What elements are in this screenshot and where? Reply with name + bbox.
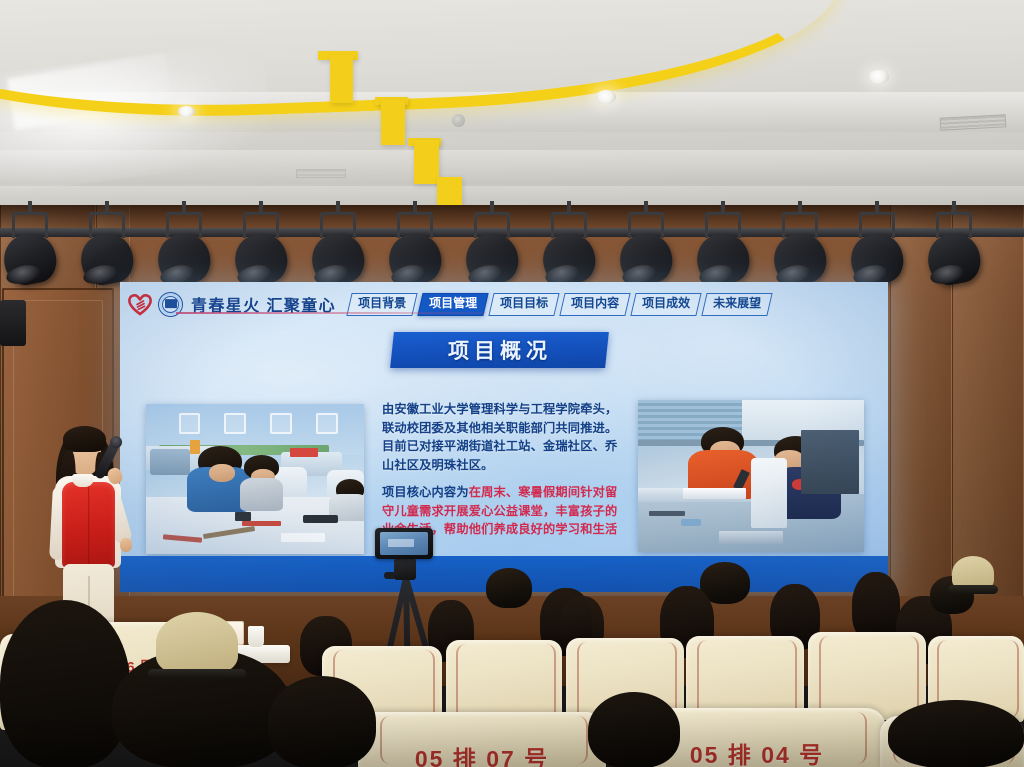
audience-head	[486, 568, 532, 608]
slogan-underline	[176, 312, 486, 314]
presenter-hair-front	[63, 426, 106, 452]
ceiling-yellow-strip	[414, 140, 439, 184]
nav-tab-label: 项目成效	[642, 297, 690, 311]
foreground-audience-head	[0, 600, 130, 767]
audience-cap	[156, 612, 238, 674]
nav-tab-label: 项目内容	[571, 297, 619, 311]
ceiling-yellow-strip	[330, 55, 353, 103]
slide-photo-right	[638, 400, 864, 552]
paper-cup	[248, 626, 264, 647]
slide-nav-bar: 青春星火 汇聚童心 项目背景项目管理项目目标项目内容项目成效未来展望	[120, 288, 888, 320]
slide-title-banner: 项目概况	[390, 332, 609, 368]
ceiling	[0, 0, 1024, 215]
presenter-red-vest	[62, 482, 115, 568]
phone-screen	[380, 532, 428, 555]
ceiling-vent	[296, 169, 346, 178]
nav-tab-label: 未来展望	[713, 297, 761, 311]
ceiling-downlight	[868, 70, 889, 84]
nav-tab-label: 项目管理	[429, 297, 477, 311]
heart-hand-icon	[127, 292, 153, 316]
slide-title-text: 项目概况	[448, 335, 552, 365]
audience-cap	[952, 556, 994, 590]
projection-screen: 青春星火 汇聚童心 项目背景项目管理项目目标项目内容项目成效未来展望 项目概况	[120, 282, 888, 592]
nav-tab-label: 项目背景	[358, 297, 406, 311]
nav-tab-3[interactable]: 项目目标	[488, 293, 559, 316]
slide-paragraph-1: 由安徽工业大学管理科学与工程学院牵头，联动校团委及其他相关职能部门共同推进。目前…	[382, 400, 620, 474]
auditorium-scene: 青春星火 汇聚童心 项目背景项目管理项目目标项目内容项目成效未来展望 项目概况	[0, 0, 1024, 767]
nav-tab-5[interactable]: 项目成效	[630, 293, 701, 316]
tripod-head	[394, 558, 416, 580]
nav-tab-label: 项目目标	[500, 297, 548, 311]
ceiling-yellow-strip	[381, 100, 405, 145]
ceiling-downlight	[178, 106, 195, 117]
foreground-audience-head	[888, 700, 1024, 767]
smoke-detector	[452, 114, 465, 127]
seat-number-label: 05 排 07 号	[358, 740, 606, 767]
smartphone-recording	[375, 528, 433, 559]
nav-tab-4[interactable]: 项目内容	[559, 293, 630, 316]
ceiling-downlight	[596, 90, 616, 104]
slide-photo-left	[146, 404, 364, 554]
foreground-audience-head	[588, 692, 680, 767]
audience-seat	[808, 632, 926, 720]
nav-tab-6[interactable]: 未来展望	[701, 293, 772, 316]
presenter-hand	[120, 538, 132, 552]
foreground-audience-head	[268, 676, 376, 767]
audience-seat-front: 05 排 07 号	[358, 712, 606, 767]
paragraph-2-lead: 项目核心内容为	[382, 485, 469, 499]
wall-speaker	[0, 300, 26, 346]
